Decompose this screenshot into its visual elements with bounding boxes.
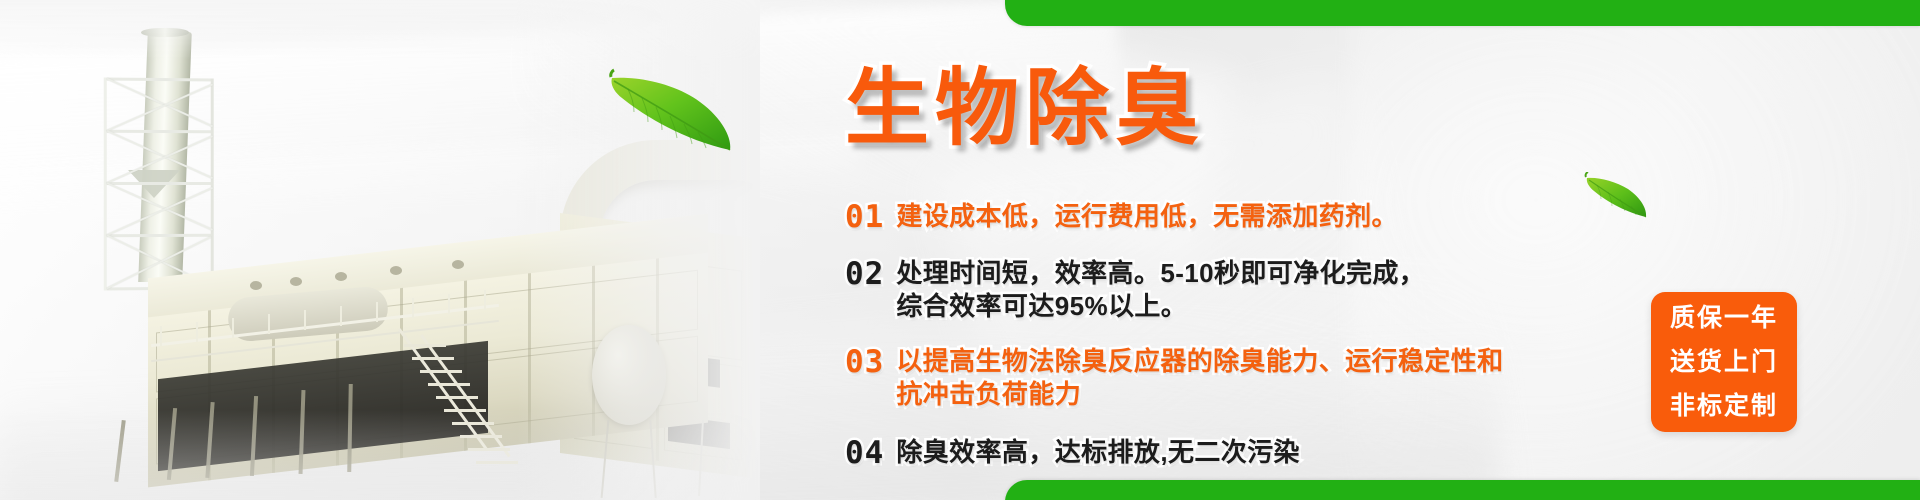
badge-line-delivery: 送货上门	[1670, 340, 1778, 384]
feature-line: 建设成本低，运行费用低，无需添加药剂。	[896, 201, 1398, 231]
leaf-icon	[598, 68, 744, 164]
service-guarantee-badge: 质保一年 送货上门 非标定制	[1651, 292, 1797, 432]
background-streak	[1350, 0, 1920, 500]
feature-line: 除臭效率高，达标排放,无二次污染	[896, 437, 1300, 467]
feature-number: 04	[845, 436, 884, 470]
page-title: 生物除臭	[845, 62, 1205, 154]
feature-number: 03	[845, 345, 884, 379]
list-item: 04 除臭效率高，达标排放,无二次污染	[845, 436, 1300, 470]
list-item: 01 建设成本低，运行费用低，无需添加药剂。	[845, 200, 1398, 234]
green-bar-bottom	[1005, 480, 1920, 500]
feature-text: 以提高生物法除臭反应器的除臭能力、运行稳定性和 抗冲击负荷能力	[896, 345, 1503, 411]
feature-line: 以提高生物法除臭反应器的除臭能力、运行稳定性和	[896, 346, 1503, 376]
badge-line-warranty: 质保一年	[1670, 296, 1778, 340]
feature-line: 抗冲击负荷能力	[896, 378, 1503, 411]
promo-banner: 生物除臭 01 建设成本低，运行费用低，无需添加药剂。 02 处理时间短，效率高…	[0, 0, 1920, 500]
list-item: 03 以提高生物法除臭反应器的除臭能力、运行稳定性和 抗冲击负荷能力	[845, 345, 1504, 411]
feature-line: 综合效率可达95%以上。	[896, 290, 1425, 323]
feature-line: 处理时间短，效率高。5-10秒即可净化完成，	[896, 258, 1425, 288]
feature-text: 建设成本低，运行费用低，无需添加药剂。	[896, 200, 1398, 233]
green-bar-top	[1005, 0, 1920, 26]
feature-text: 除臭效率高，达标排放,无二次污染	[896, 436, 1300, 469]
feature-number: 02	[845, 257, 884, 291]
badge-line-custom: 非标定制	[1670, 384, 1778, 428]
feature-text: 处理时间短，效率高。5-10秒即可净化完成， 综合效率可达95%以上。	[896, 257, 1425, 323]
leaf-icon	[1580, 172, 1652, 224]
list-item: 02 处理时间短，效率高。5-10秒即可净化完成， 综合效率可达95%以上。	[845, 257, 1425, 323]
feature-number: 01	[845, 200, 884, 234]
